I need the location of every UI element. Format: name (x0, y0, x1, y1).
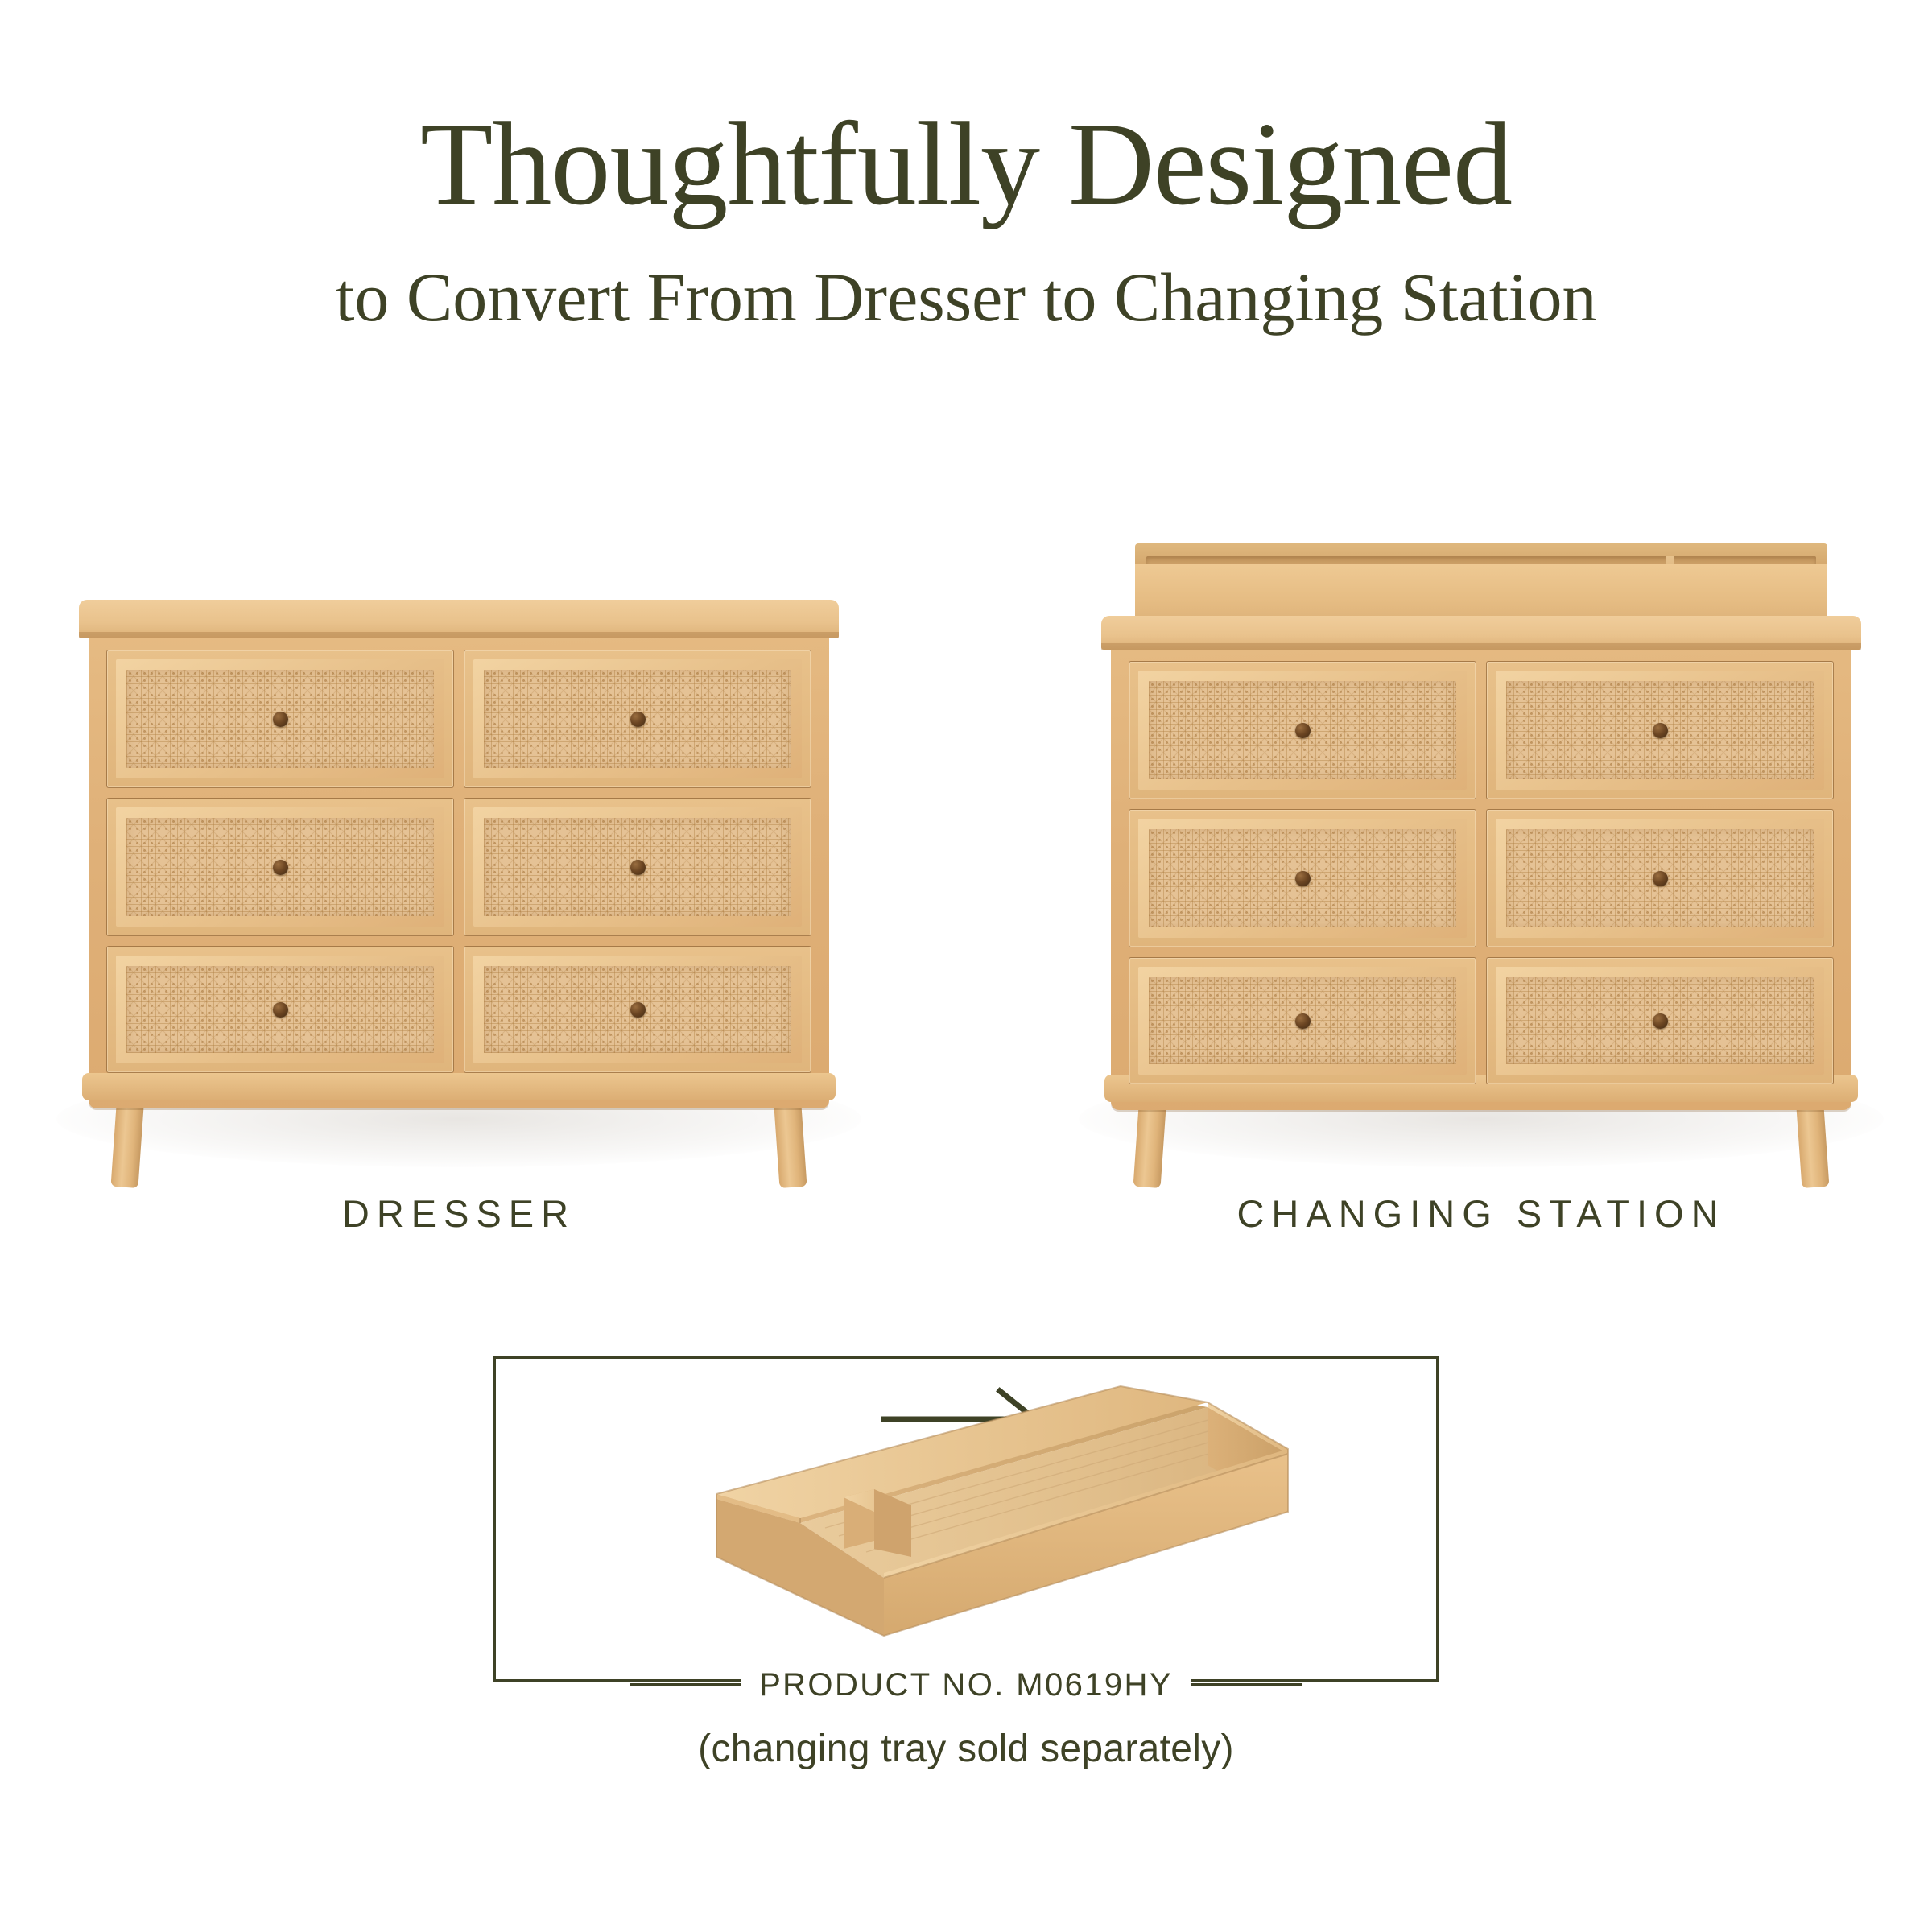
product-comparison-row: DRESSER (0, 515, 1932, 1256)
dresser-caption: DRESSER (48, 1191, 869, 1236)
dresser-drawer[interactable] (106, 798, 454, 936)
changing-station-drawer[interactable] (1129, 809, 1476, 947)
drawer-knob[interactable] (1653, 871, 1668, 886)
product-dresser: DRESSER (48, 515, 869, 1256)
dresser-illustration (64, 592, 853, 1171)
rule-left (630, 1683, 741, 1686)
drawer-knob[interactable] (1295, 723, 1311, 738)
dresser-drawer[interactable] (464, 650, 811, 788)
page-title: Thoughtfully Designed (0, 105, 1932, 224)
dresser-drawer[interactable] (464, 946, 811, 1073)
changing-station-illustration (1087, 543, 1876, 1171)
changing-station-drawer[interactable] (1486, 957, 1834, 1084)
changing-station-drawer[interactable] (1129, 661, 1476, 799)
drawer-knob[interactable] (1653, 723, 1668, 738)
dresser-drawer[interactable] (464, 798, 811, 936)
dresser-plinth (82, 1073, 836, 1100)
header: Thoughtfully Designed to Convert From Dr… (0, 0, 1932, 332)
drawer-knob[interactable] (273, 860, 288, 875)
drawer-knob[interactable] (273, 712, 288, 727)
drawer-knob[interactable] (273, 1002, 288, 1018)
drawer-knob[interactable] (1295, 871, 1311, 886)
product-changing-station: CHANGING STATION (1071, 515, 1892, 1256)
dresser-drawer[interactable] (106, 650, 454, 788)
page-subtitle: to Convert From Dresser to Changing Stat… (0, 262, 1932, 332)
changing-station-caption: CHANGING STATION (1071, 1191, 1892, 1236)
changing-station-top-surface (1101, 616, 1861, 650)
drawer-knob[interactable] (630, 712, 646, 727)
drawer-knob[interactable] (630, 860, 646, 875)
mounted-changing-tray (1135, 543, 1827, 627)
product-number-line: PRODUCT NO. M0619HY (493, 1662, 1439, 1707)
changing-station-drawer[interactable] (1486, 809, 1834, 947)
changing-tray-icon (628, 1377, 1320, 1650)
changing-tray-illustration (628, 1377, 1320, 1650)
changing-station-drawer[interactable] (1129, 957, 1476, 1084)
dresser-drawer[interactable] (106, 946, 454, 1073)
drawer-knob[interactable] (1653, 1013, 1668, 1029)
drawer-knob[interactable] (630, 1002, 646, 1018)
drawer-knob[interactable] (1295, 1013, 1311, 1029)
product-number-label: PRODUCT NO. M0619HY (741, 1667, 1191, 1703)
rule-right (1191, 1683, 1302, 1686)
dresser-top-surface (79, 600, 839, 638)
changing-station-drawer[interactable] (1486, 661, 1834, 799)
tray-sold-separately-note: (changing tray sold separately) (0, 1727, 1932, 1771)
